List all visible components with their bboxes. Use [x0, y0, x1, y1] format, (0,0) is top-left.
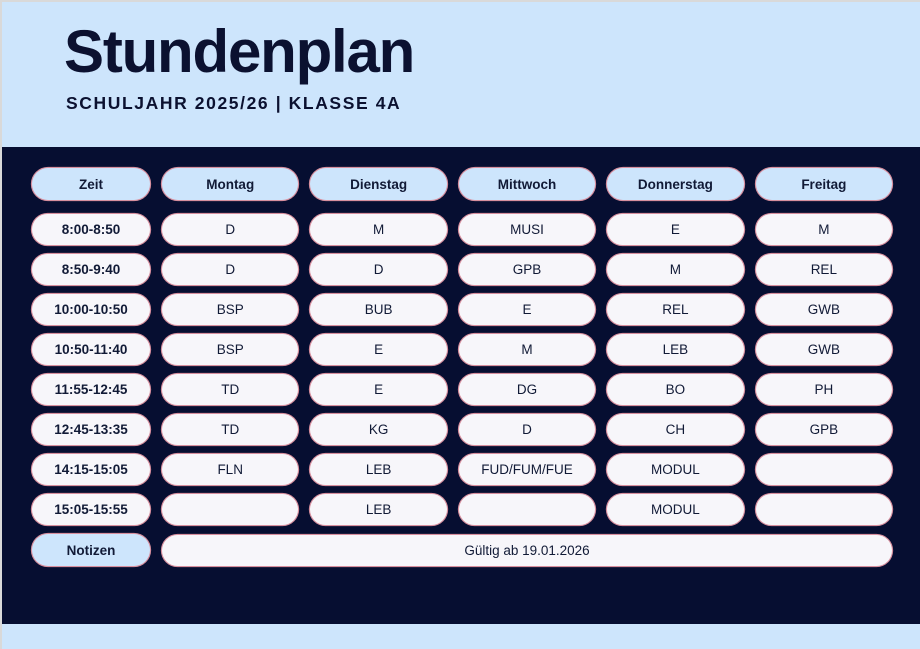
lesson-cell[interactable]: E	[310, 334, 446, 365]
lesson-cell[interactable]: M	[607, 254, 743, 285]
lesson-cell[interactable]: LEB	[310, 454, 446, 485]
lesson-cell[interactable]: BSP	[162, 294, 298, 325]
lesson-cell[interactable]: CH	[607, 414, 743, 445]
lesson-cell[interactable]: TD	[162, 414, 298, 445]
lesson-cell[interactable]: D	[310, 254, 446, 285]
column-header-mittwoch[interactable]: Mittwoch	[459, 168, 595, 200]
page-subtitle: SCHULJAHR 2025/26 | KLASSE 4A	[66, 93, 920, 114]
lesson-cell[interactable]: GWB	[756, 334, 892, 365]
column-header-dienstag[interactable]: Dienstag	[310, 168, 446, 200]
lesson-cell[interactable]: M	[459, 334, 595, 365]
column-header-montag[interactable]: Montag	[162, 168, 298, 200]
lesson-cell[interactable]	[756, 494, 892, 525]
lesson-cell[interactable]: E	[607, 214, 743, 245]
table-row: 8:00-8:50 D M MUSI E M	[32, 214, 892, 245]
lesson-cell[interactable]	[756, 454, 892, 485]
lesson-cell[interactable]: D	[162, 214, 298, 245]
lesson-cell[interactable]: TD	[162, 374, 298, 405]
lesson-cell[interactable]: PH	[756, 374, 892, 405]
lesson-cell[interactable]: M	[756, 214, 892, 245]
lesson-cell[interactable]: BUB	[310, 294, 446, 325]
lesson-cell[interactable]	[459, 494, 595, 525]
time-label: 8:50-9:40	[32, 254, 150, 285]
page-header: Stundenplan SCHULJAHR 2025/26 | KLASSE 4…	[2, 2, 920, 147]
lesson-cell[interactable]: MODUL	[607, 494, 743, 525]
notes-value[interactable]: Gültig ab 19.01.2026	[162, 535, 892, 566]
notes-row: Notizen Gültig ab 19.01.2026	[32, 534, 892, 566]
lesson-cell[interactable]: M	[310, 214, 446, 245]
table-row: 10:00-10:50 BSP BUB E REL GWB	[32, 294, 892, 325]
lesson-cell[interactable]: BSP	[162, 334, 298, 365]
timetable-board: Zeit Montag Dienstag Mittwoch Donnerstag…	[2, 147, 920, 624]
table-row: 11:55-12:45 TD E DG BO PH	[32, 374, 892, 405]
lesson-cell[interactable]: E	[310, 374, 446, 405]
lesson-cell[interactable]: LEB	[607, 334, 743, 365]
lesson-cell[interactable]: MUSI	[459, 214, 595, 245]
lesson-cell[interactable]: GPB	[756, 414, 892, 445]
table-row: 12:45-13:35 TD KG D CH GPB	[32, 414, 892, 445]
column-header-freitag[interactable]: Freitag	[756, 168, 892, 200]
time-label: 8:00-8:50	[32, 214, 150, 245]
lesson-cell[interactable]: GWB	[756, 294, 892, 325]
time-label: 10:00-10:50	[32, 294, 150, 325]
lesson-cell[interactable]: DG	[459, 374, 595, 405]
time-label: 15:05-15:55	[32, 494, 150, 525]
table-row: 14:15-15:05 FLN LEB FUD/FUM/FUE MODUL	[32, 454, 892, 485]
table-row: 15:05-15:55 LEB MODUL	[32, 494, 892, 525]
column-header-zeit[interactable]: Zeit	[32, 168, 150, 200]
lesson-cell[interactable]: FUD/FUM/FUE	[459, 454, 595, 485]
lesson-cell[interactable]	[162, 494, 298, 525]
notes-label[interactable]: Notizen	[32, 534, 150, 566]
page-title: Stundenplan	[64, 20, 920, 83]
timetable-page: Stundenplan SCHULJAHR 2025/26 | KLASSE 4…	[0, 0, 920, 649]
footer-band	[2, 624, 920, 649]
lesson-cell[interactable]: MODUL	[607, 454, 743, 485]
lesson-cell[interactable]: D	[162, 254, 298, 285]
lesson-cell[interactable]: LEB	[310, 494, 446, 525]
lesson-cell[interactable]: BO	[607, 374, 743, 405]
table-row: 10:50-11:40 BSP E M LEB GWB	[32, 334, 892, 365]
time-label: 10:50-11:40	[32, 334, 150, 365]
lesson-cell[interactable]: KG	[310, 414, 446, 445]
table-row: 8:50-9:40 D D GPB M REL	[32, 254, 892, 285]
lesson-cell[interactable]: E	[459, 294, 595, 325]
time-label: 14:15-15:05	[32, 454, 150, 485]
lesson-cell[interactable]: D	[459, 414, 595, 445]
lesson-cell[interactable]: REL	[756, 254, 892, 285]
time-label: 12:45-13:35	[32, 414, 150, 445]
column-header-donnerstag[interactable]: Donnerstag	[607, 168, 743, 200]
lesson-cell[interactable]: REL	[607, 294, 743, 325]
time-label: 11:55-12:45	[32, 374, 150, 405]
table-header-row: Zeit Montag Dienstag Mittwoch Donnerstag…	[32, 168, 892, 200]
lesson-cell[interactable]: FLN	[162, 454, 298, 485]
lesson-cell[interactable]: GPB	[459, 254, 595, 285]
